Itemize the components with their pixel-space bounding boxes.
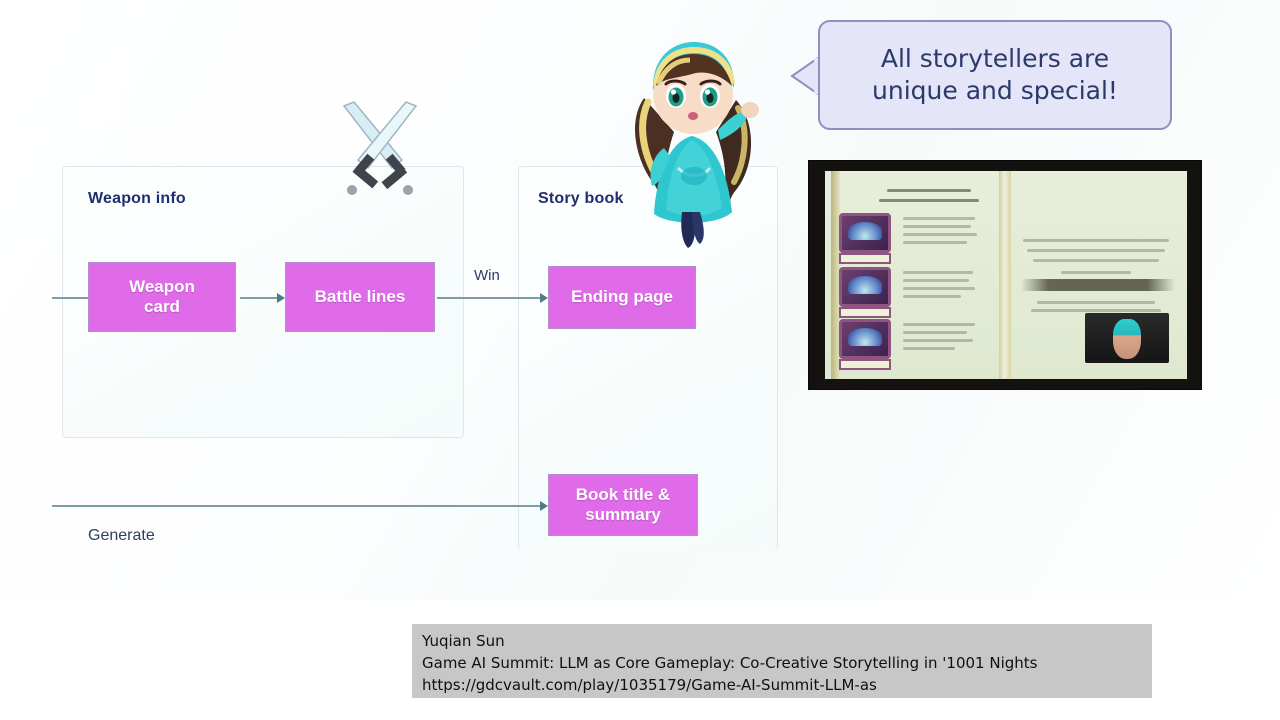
node-book-title-summary: Book title &summary	[548, 474, 698, 536]
card-gem-icon	[848, 276, 882, 294]
arrowhead-ending-page	[540, 293, 548, 303]
connector-generate-to-book-title	[52, 505, 542, 507]
storybook-text-line	[903, 225, 971, 228]
storybook-text-line	[903, 241, 967, 244]
card-gem-icon	[848, 328, 882, 346]
node-book-title-summary-label: Book title &summary	[576, 485, 670, 525]
crossed-swords-icon	[328, 98, 432, 198]
storybook-text-line	[1033, 259, 1159, 262]
storybook-heading-line	[879, 199, 979, 202]
connector-battle-lines-to-ending-page	[437, 297, 541, 299]
node-ending-page-label: Ending page	[571, 287, 673, 307]
edge-label-win: Win	[474, 267, 500, 284]
edge-label-generate: Generate	[88, 527, 155, 545]
storybook-gutter	[999, 171, 1011, 379]
caption-url: https://gdcvault.com/play/1035179/Game-A…	[422, 675, 1142, 697]
caption-author: Yuqian Sun	[422, 631, 1142, 653]
storybook-text-line	[903, 339, 973, 342]
arrowhead-book-title	[540, 501, 548, 511]
storybook-heading-line	[887, 189, 971, 192]
caption-title: Game AI Summit: LLM as Core Gameplay: Co…	[422, 653, 1142, 675]
storybook-text-line	[1037, 301, 1155, 304]
storybook-text-line	[903, 331, 967, 334]
storybook-text-line	[903, 279, 969, 282]
slide-canvas: Weapon info Story book Win Generate Weap…	[0, 0, 1280, 600]
storybook-card-caption	[839, 253, 891, 264]
node-ending-page: Ending page	[548, 266, 696, 329]
storybook-text-line	[903, 323, 975, 326]
storybook-card-thumbnail	[839, 319, 891, 359]
panel-weapon-info-title: Weapon info	[88, 190, 186, 208]
speech-bubble-text: All storytellers are unique and special!	[838, 43, 1152, 107]
storybook-card-thumbnail	[839, 213, 891, 253]
storybook-text-line	[1031, 309, 1161, 312]
arrowhead-battle-lines	[277, 293, 285, 303]
storybook-card-caption	[839, 359, 891, 370]
storybook-text-line	[903, 347, 955, 350]
storybook-portrait-face	[1113, 319, 1141, 359]
storybook-character-portrait	[1085, 313, 1169, 363]
open-storybook-screenshot	[808, 160, 1202, 390]
storybook-text-line	[1023, 239, 1169, 242]
card-gem-icon	[848, 222, 882, 240]
node-battle-lines: Battle lines	[285, 262, 435, 332]
storybook-text-line	[903, 295, 961, 298]
storybook-text-line	[903, 217, 975, 220]
storybook-text-line	[1061, 271, 1131, 274]
node-weapon-card-label: Weaponcard	[129, 277, 195, 317]
node-weapon-card: Weaponcard	[88, 262, 236, 332]
storybook-text-line	[903, 233, 977, 236]
storybook-page-title	[1021, 279, 1175, 291]
node-battle-lines-label: Battle lines	[315, 287, 406, 307]
storybook-text-line	[903, 271, 973, 274]
speech-bubble: All storytellers are unique and special!	[818, 20, 1172, 130]
chibi-storyteller-character	[608, 28, 778, 252]
speech-bubble-tail	[790, 56, 820, 96]
storybook-card-caption	[839, 307, 891, 318]
storybook-card-thumbnail	[839, 267, 891, 307]
connector-weapon-card-to-battle-lines	[240, 297, 278, 299]
storybook-text-line	[1027, 249, 1165, 252]
storybook-text-line	[903, 287, 975, 290]
caption-bar: Yuqian Sun Game AI Summit: LLM as Core G…	[412, 624, 1152, 698]
